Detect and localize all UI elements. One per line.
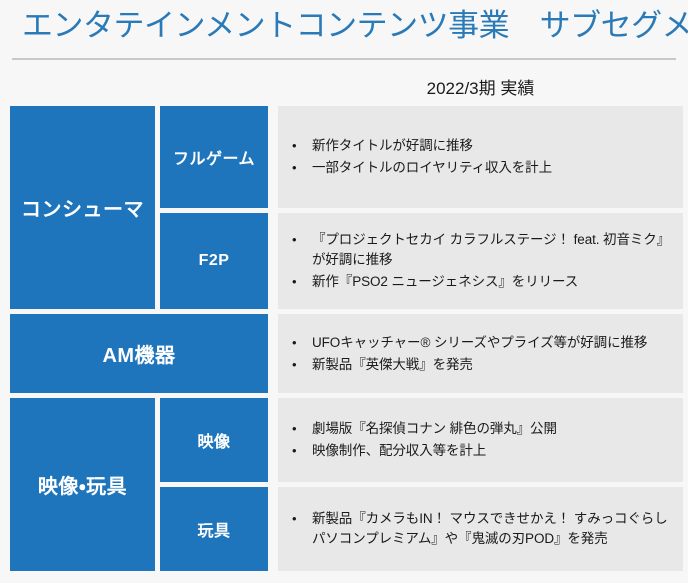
note-item: •新作『PSO2 ニュージェネシス』をリリース	[290, 272, 673, 292]
note-text: 『プロジェクトセカイ カラフルステージ！ feat. 初音ミク』が好調に推移	[312, 232, 670, 267]
slide-root: エンタテインメントコンテンツ事業 サブセグメント別 2022/3期 実績 コンシ…	[0, 0, 688, 583]
subsegment-block: F2P	[160, 213, 268, 309]
notes-panel: •新製品『カメラもIN！ マウスできせかえ！ すみっコぐらしパソコンプレミアム』…	[278, 487, 683, 571]
notes-panel: •劇場版『名探偵コナン 緋色の弾丸』公開•映像制作、配分収入等を計上	[278, 398, 683, 482]
bullet-icon: •	[292, 355, 296, 375]
note-item: •新作タイトルが好調に推移	[290, 136, 673, 156]
notes-list: •劇場版『名探偵コナン 緋色の弾丸』公開•映像制作、配分収入等を計上	[290, 419, 673, 461]
title-area: エンタテインメントコンテンツ事業 サブセグメント別	[0, 0, 688, 62]
notes-panel: •UFOキャッチャー® シリーズやプライズ等が好調に推移•新製品『英傑大戦』を発…	[278, 314, 683, 393]
note-item: •『プロジェクトセカイ カラフルステージ！ feat. 初音ミク』が好調に推移	[290, 230, 673, 270]
subsegment-block: 玩具	[160, 487, 268, 571]
note-item: •新製品『英傑大戦』を発売	[290, 355, 673, 375]
bullet-icon: •	[292, 441, 296, 461]
note-text: 新製品『カメラもIN！ マウスできせかえ！ すみっコぐらしパソコンプレミアム』や…	[312, 511, 668, 546]
note-item: •UFOキャッチャー® シリーズやプライズ等が好調に推移	[290, 333, 673, 353]
segment-matrix: コンシューマフルゲーム•新作タイトルが好調に推移•一部タイトルのロイヤリティ収入…	[0, 106, 688, 568]
bullet-icon: •	[292, 272, 296, 292]
segment-block: AM機器	[10, 314, 268, 393]
note-text: UFOキャッチャー® シリーズやプライズ等が好調に推移	[312, 335, 647, 350]
note-item: •劇場版『名探偵コナン 緋色の弾丸』公開	[290, 419, 673, 439]
period-header: 2022/3期 実績	[278, 78, 683, 100]
bullet-icon: •	[292, 158, 296, 178]
bullet-icon: •	[292, 136, 296, 156]
bullet-icon: •	[292, 333, 296, 353]
notes-list: •新製品『カメラもIN！ マウスできせかえ！ すみっコぐらしパソコンプレミアム』…	[290, 509, 673, 549]
segment-block: コンシューマ	[10, 106, 155, 309]
note-text: 新作『PSO2 ニュージェネシス』をリリース	[312, 274, 578, 289]
notes-list: •新作タイトルが好調に推移•一部タイトルのロイヤリティ収入を計上	[290, 136, 673, 178]
notes-list: •『プロジェクトセカイ カラフルステージ！ feat. 初音ミク』が好調に推移•…	[290, 230, 673, 292]
subsegment-block: フルゲーム	[160, 106, 268, 208]
note-text: 一部タイトルのロイヤリティ収入を計上	[312, 160, 552, 175]
note-text: 新作タイトルが好調に推移	[312, 138, 473, 153]
bullet-icon: •	[292, 230, 296, 250]
title-divider	[12, 58, 676, 60]
note-item: •新製品『カメラもIN！ マウスできせかえ！ すみっコぐらしパソコンプレミアム』…	[290, 509, 673, 549]
note-item: •映像制作、配分収入等を計上	[290, 441, 673, 461]
subsegment-block: 映像	[160, 398, 268, 482]
segment-block: 映像・玩具	[10, 398, 155, 571]
note-item: •一部タイトルのロイヤリティ収入を計上	[290, 158, 673, 178]
note-text: 劇場版『名探偵コナン 緋色の弾丸』公開	[312, 421, 557, 436]
page-title: エンタテインメントコンテンツ事業 サブセグメント別	[22, 4, 688, 48]
note-text: 映像制作、配分収入等を計上	[312, 443, 486, 458]
notes-list: •UFOキャッチャー® シリーズやプライズ等が好調に推移•新製品『英傑大戦』を発…	[290, 333, 673, 375]
bullet-icon: •	[292, 419, 296, 439]
note-text: 新製品『英傑大戦』を発売	[312, 357, 473, 372]
notes-panel: •『プロジェクトセカイ カラフルステージ！ feat. 初音ミク』が好調に推移•…	[278, 213, 683, 309]
bullet-icon: •	[292, 509, 296, 529]
notes-panel: •新作タイトルが好調に推移•一部タイトルのロイヤリティ収入を計上	[278, 106, 683, 208]
